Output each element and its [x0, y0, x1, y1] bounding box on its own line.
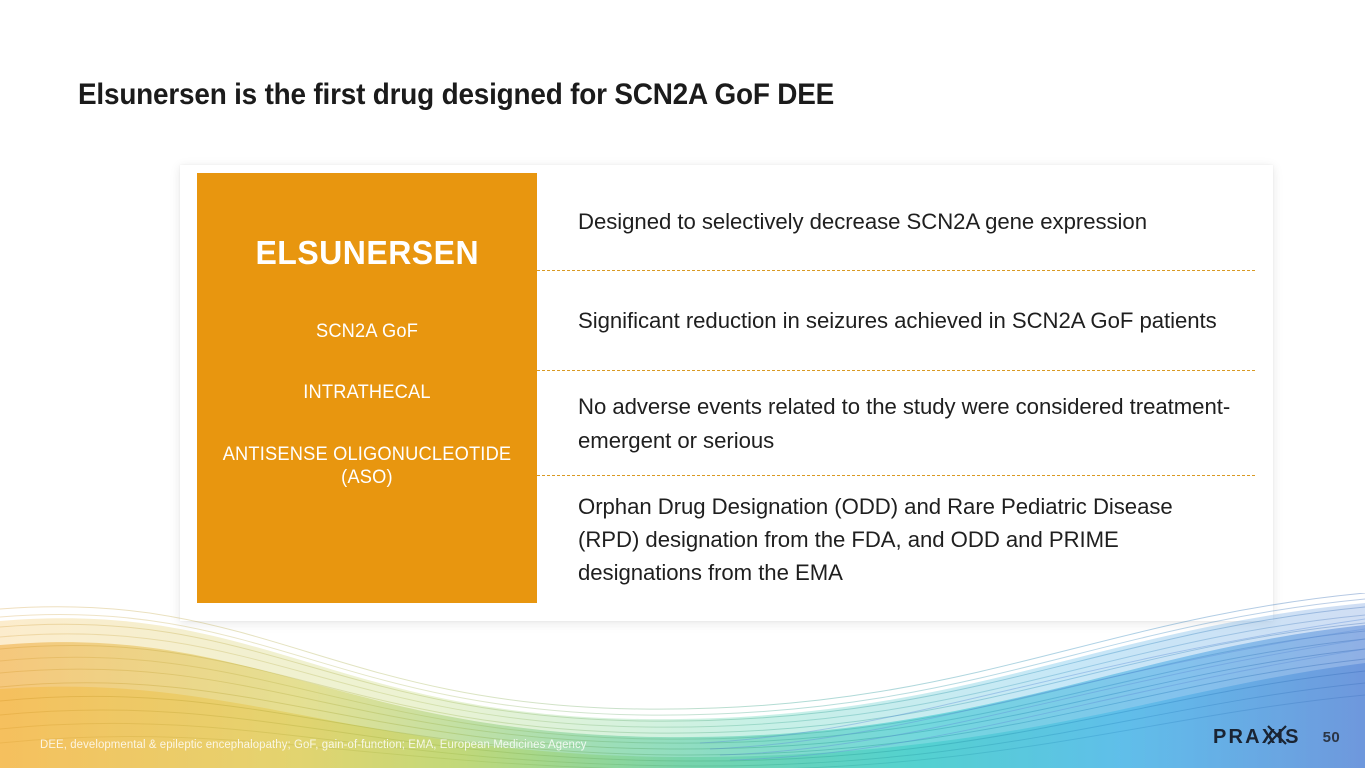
fact-item: Designed to selectively decrease SCN2A g… — [537, 173, 1263, 271]
fact-text: No adverse events related to the study w… — [578, 390, 1235, 457]
content-card: ELSUNERSEN SCN2A GoF INTRATHECAL ANTISEN… — [180, 165, 1273, 621]
fact-text: Designed to selectively decrease SCN2A g… — [578, 205, 1147, 238]
fact-item: Orphan Drug Designation (ODD) and Rare P… — [537, 476, 1263, 603]
page-title: Elsunersen is the first drug designed fo… — [78, 78, 834, 112]
fact-text: Orphan Drug Designation (ODD) and Rare P… — [578, 490, 1235, 590]
footnote-abbreviations: DEE, developmental & epileptic encephalo… — [40, 739, 587, 751]
brand-panel: ELSUNERSEN SCN2A GoF INTRATHECAL ANTISEN… — [197, 173, 537, 603]
brand-attribute-modality: ANTISENSE OLIGONUCLEOTIDE (ASO) — [204, 443, 530, 489]
brand-attribute-route: INTRATHECAL — [204, 381, 530, 404]
x-cross-icon — [1265, 723, 1289, 747]
slide-canvas: Elsunersen is the first drug designed fo… — [0, 0, 1365, 768]
fact-item: Significant reduction in seizures achiev… — [537, 271, 1263, 371]
facts-list: Designed to selectively decrease SCN2A g… — [537, 173, 1263, 603]
brand-logo-group: PRAXIS 50 — [1213, 726, 1340, 749]
brand-name: ELSUNERSEN — [255, 235, 479, 271]
brand-attribute-target: SCN2A GoF — [204, 320, 530, 343]
page-number: 50 — [1323, 729, 1340, 746]
fact-item: No adverse events related to the study w… — [537, 371, 1263, 476]
fact-text: Significant reduction in seizures achiev… — [578, 304, 1217, 337]
